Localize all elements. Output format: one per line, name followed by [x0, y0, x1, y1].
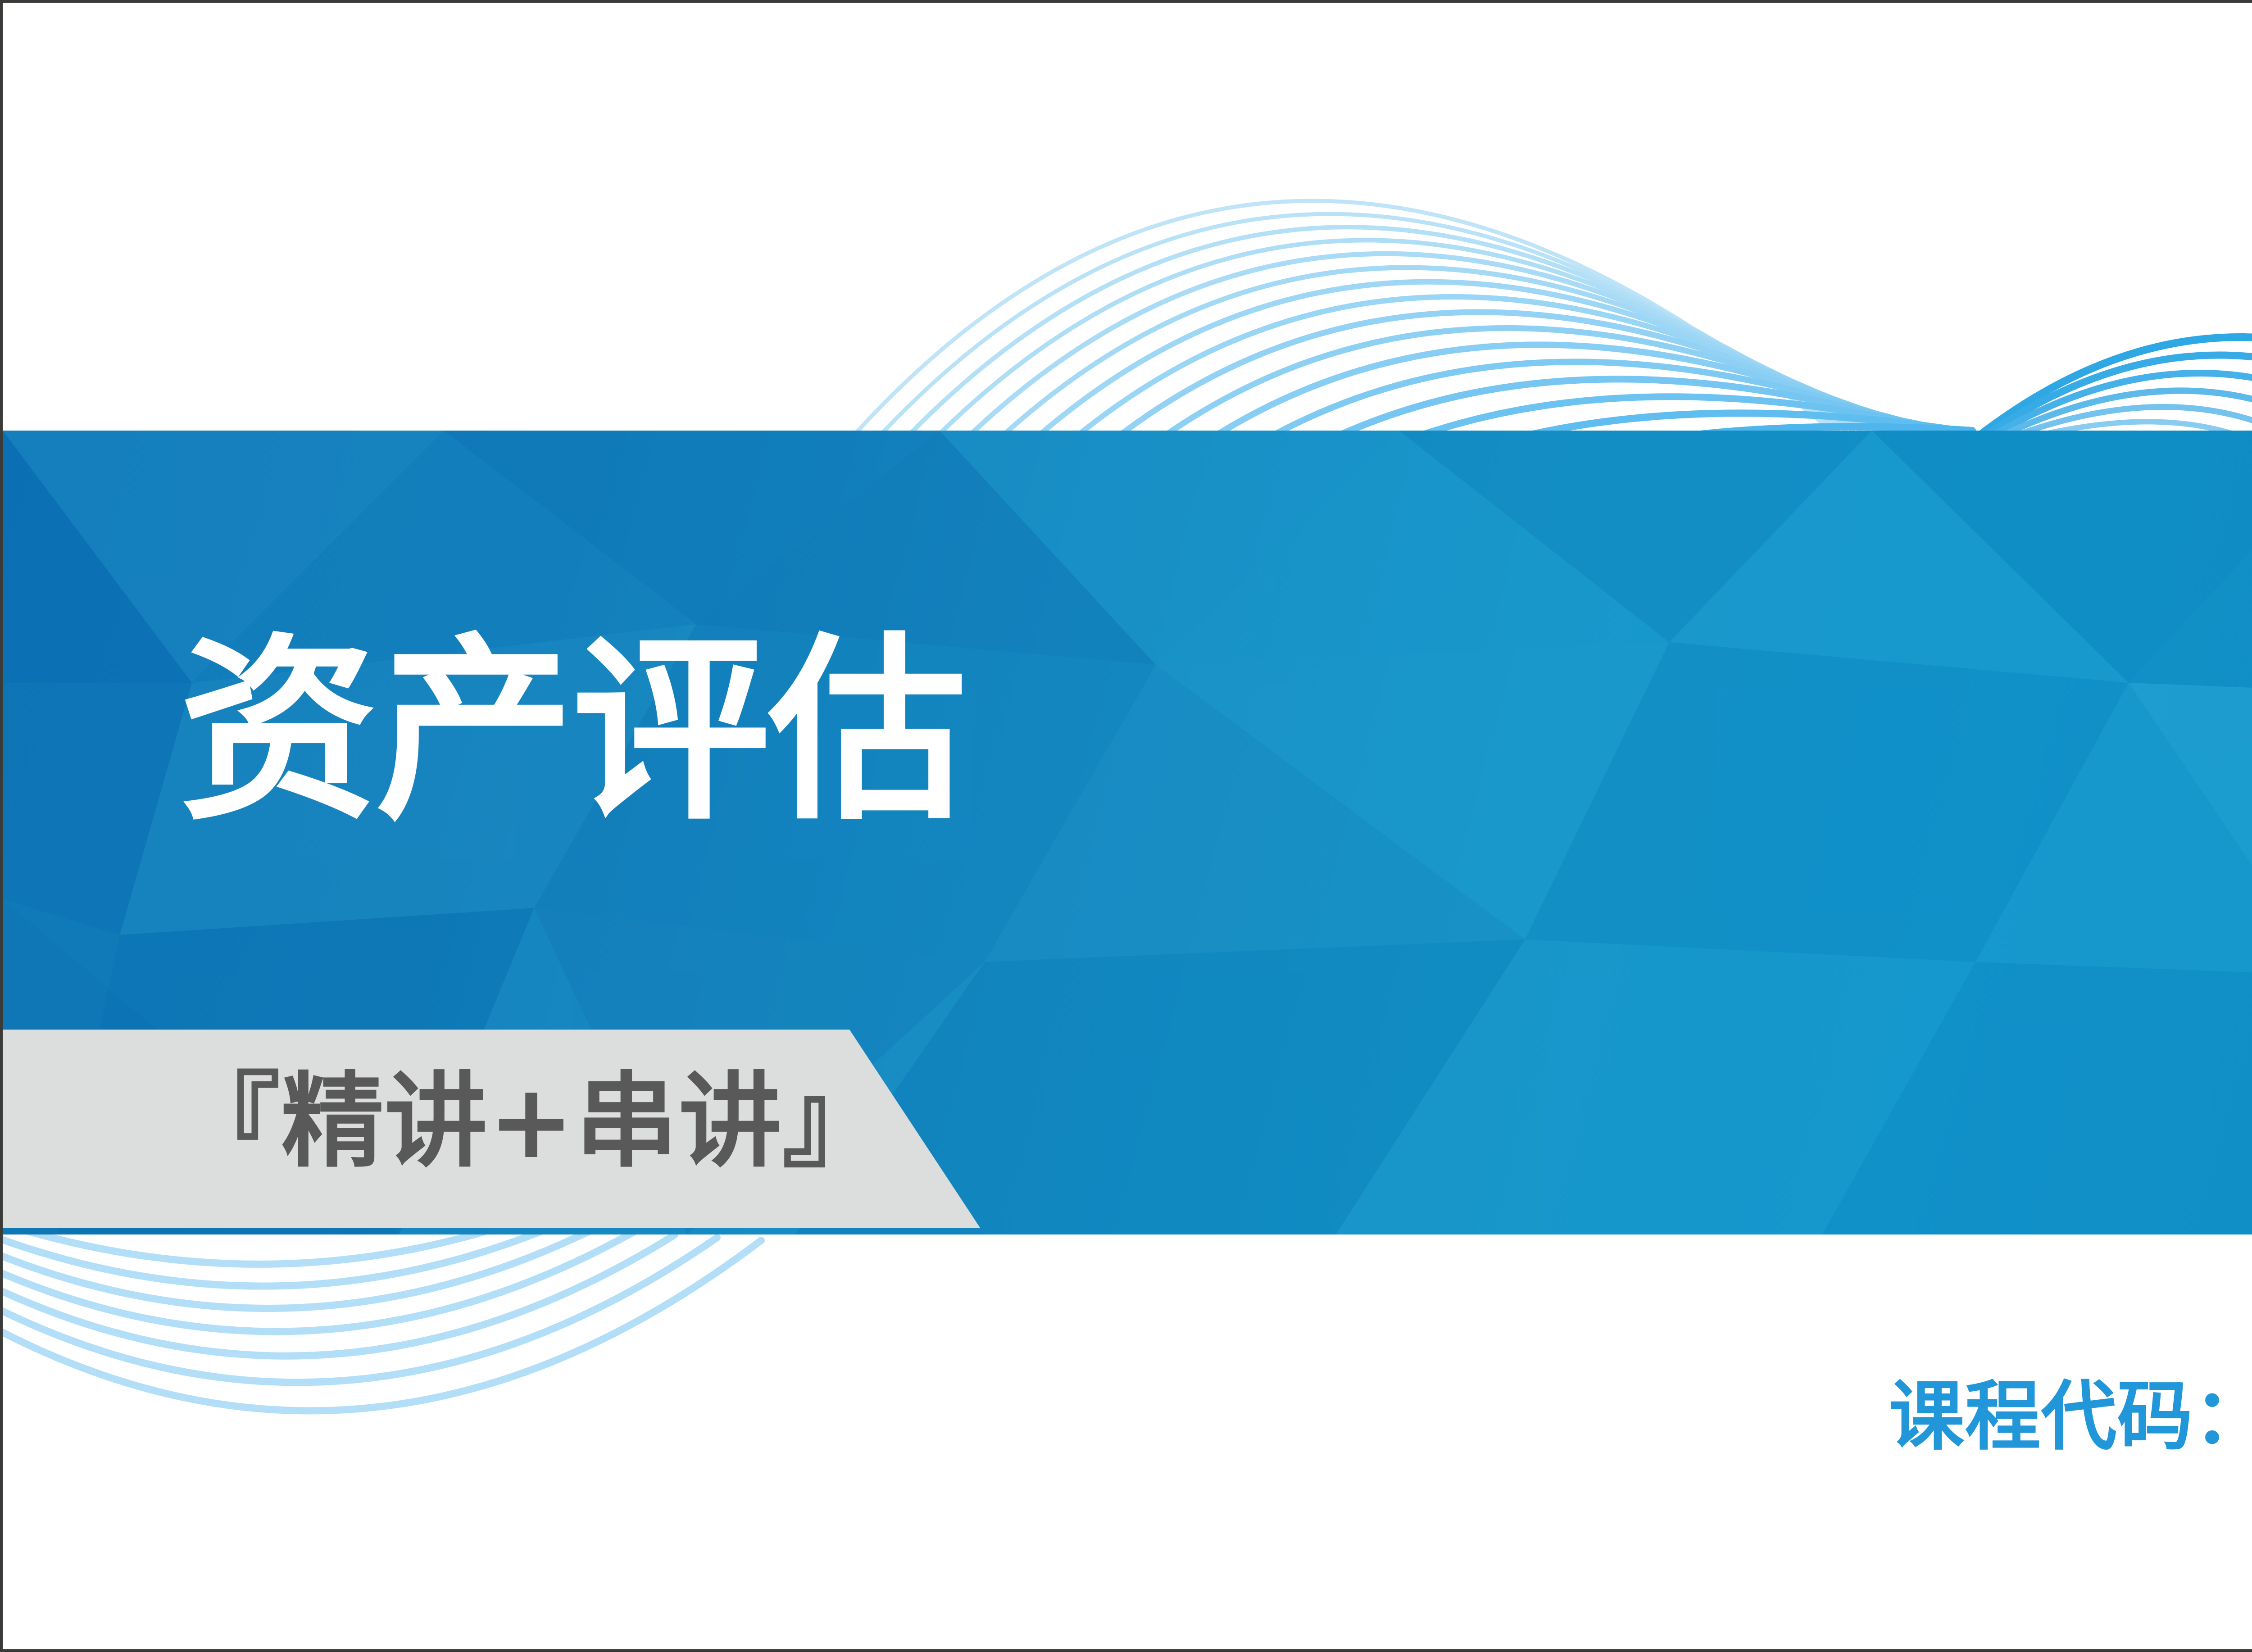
subtitle-label: 『精讲+串讲』 [177, 1070, 886, 1173]
page-title: 资产评估 [179, 632, 965, 831]
course-code-label: 课程代码：00158 [1889, 1379, 2252, 1454]
presentation-title-slide: 资产评估 『精讲+串讲』 课程代码：00158 [0, 0, 2252, 1652]
